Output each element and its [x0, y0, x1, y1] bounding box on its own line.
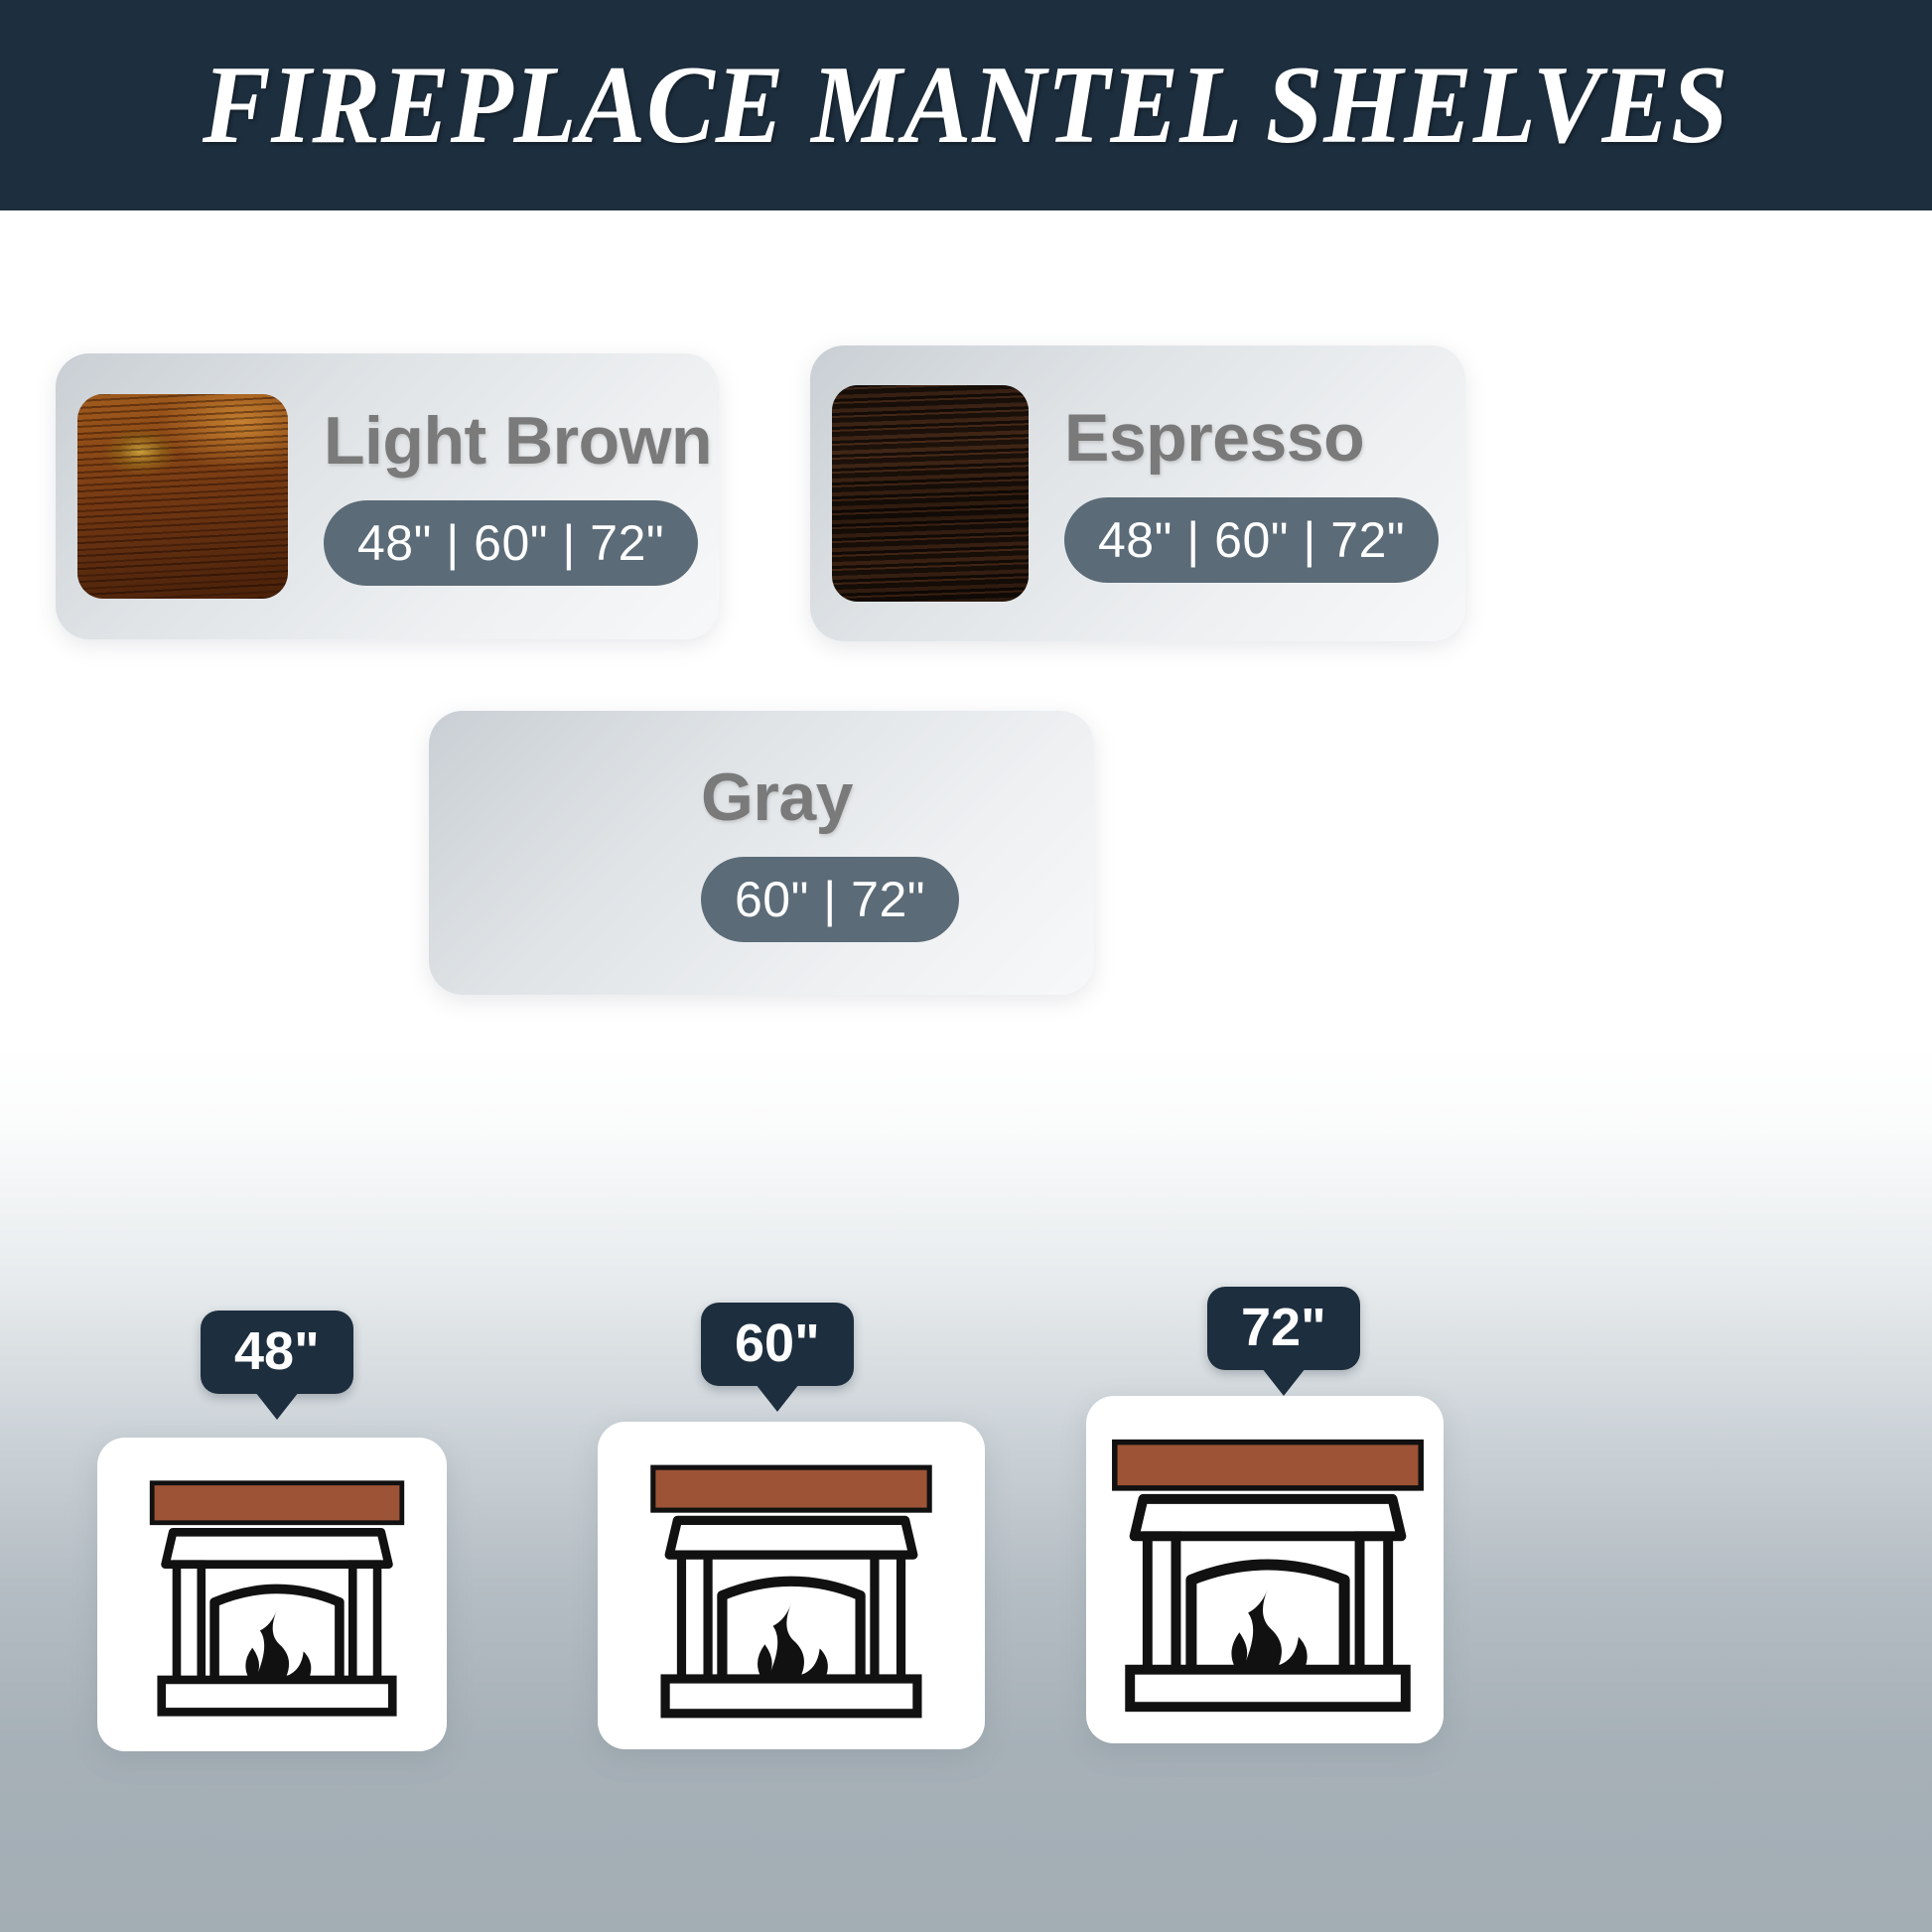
finish-card-light-brown[interactable]: Light Brown 48" | 60" | 72" — [56, 353, 719, 639]
swatch-tile-espresso — [832, 385, 1029, 602]
swatch-tile-light-brown — [77, 394, 288, 599]
finish-card-body: Espresso 48" | 60" | 72" — [1029, 404, 1465, 583]
fireplace-icon — [627, 1461, 955, 1722]
page-title: FIREPLACE MANTEL SHELVES — [203, 50, 1729, 161]
fireplace-icon — [135, 1477, 419, 1720]
swatch-tile-gray — [459, 751, 665, 955]
infographic-page: FIREPLACE MANTEL SHELVES Light Brown 48"… — [0, 0, 1932, 1932]
finish-card-body: Gray 60" | 72" — [665, 763, 1094, 942]
finish-name-gray: Gray — [701, 763, 1094, 831]
finish-card-espresso[interactable]: Espresso 48" | 60" | 72" — [810, 345, 1465, 641]
finish-name-light-brown: Light Brown — [324, 407, 719, 475]
size-badge-60: 60" — [701, 1303, 854, 1386]
size-pill-light-brown: 48" | 60" | 72" — [324, 500, 698, 586]
size-pill-gray: 60" | 72" — [701, 857, 959, 942]
finish-name-espresso: Espresso — [1064, 404, 1465, 472]
finish-card-body: Light Brown 48" | 60" | 72" — [288, 407, 719, 586]
wood-texture-espresso — [832, 385, 1029, 602]
size-badge-48: 48" — [201, 1311, 353, 1394]
wood-texture-gray — [459, 751, 665, 955]
wood-texture-light-brown — [77, 394, 288, 599]
finish-card-gray[interactable]: Gray 60" | 72" — [429, 711, 1094, 995]
header-banner: FIREPLACE MANTEL SHELVES — [0, 0, 1932, 210]
size-pill-espresso: 48" | 60" | 72" — [1064, 497, 1439, 583]
fireplace-icon — [1100, 1436, 1436, 1716]
size-badge-72: 72" — [1207, 1287, 1360, 1370]
